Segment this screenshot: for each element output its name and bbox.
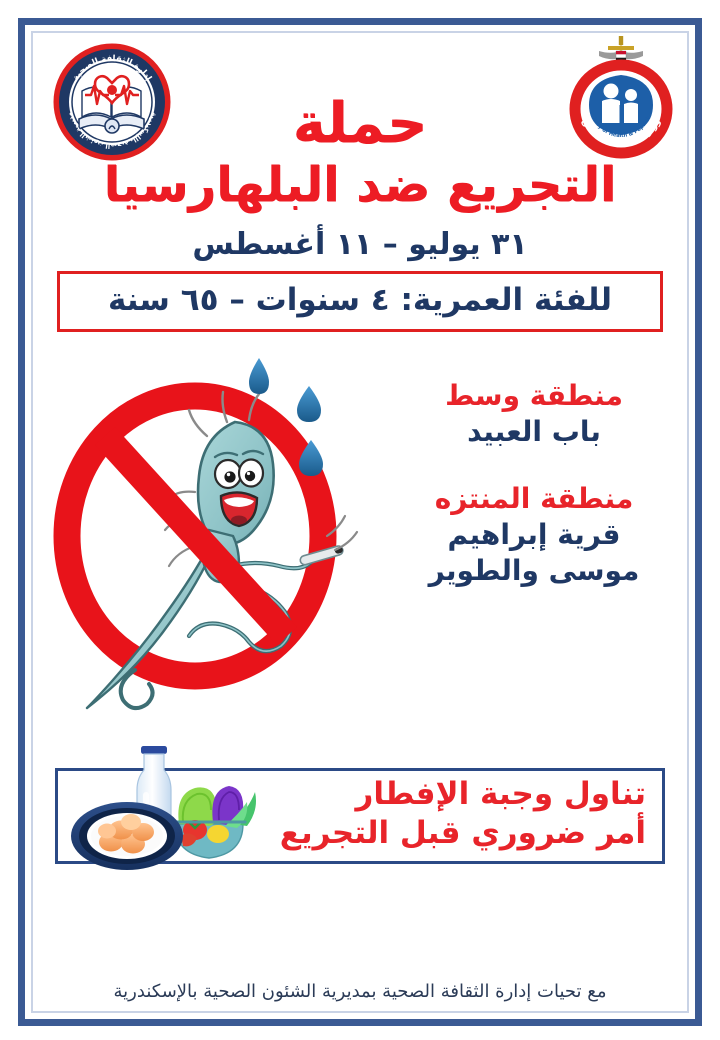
poster-inner-frame: إدارة الثقافة الصحية مديرية الشئون الصحي…: [31, 31, 689, 1013]
location-item: منطقة المنتزه قرية إبراهيم موسى والطوير: [403, 481, 665, 590]
poster-root: إدارة الثقافة الصحية مديرية الشئون الصحي…: [0, 0, 720, 1040]
age-range-box: للفئة العمرية: ٤ سنوات – ٦٥ سنة: [57, 271, 663, 332]
locations-list: منطقة وسط باب العبيد منطقة المنتزه قرية …: [403, 378, 665, 590]
poster-header: إدارة الثقافة الصحية مديرية الشئون الصحي…: [33, 33, 687, 265]
breakfast-banner-text: تناول وجبة الإفطار أمر ضروري قبل التجريع: [280, 775, 646, 854]
health-culture-administration-logo-icon: إدارة الثقافة الصحية مديرية الشئون الصحي…: [51, 43, 173, 161]
location-district: منطقة وسط: [403, 378, 665, 414]
breakfast-line2: أمر ضروري قبل التجريع: [280, 814, 646, 854]
campaign-date-range: ٣١ يوليو – ١١ أغسطس: [33, 227, 687, 263]
location-place: باب العبيد: [403, 414, 665, 450]
breakfast-line1: تناول وجبة الإفطار: [280, 775, 646, 815]
no-schistosoma-prohibition-sign-icon: [43, 340, 373, 716]
poster-footer: مع تحيات إدارة الثقافة الصحية بمديرية ال…: [33, 980, 687, 1003]
location-place-line1: قرية إبراهيم: [403, 517, 665, 553]
breakfast-meal-illustration-icon: [63, 732, 263, 876]
footer-credit-text: مع تحيات إدارة الثقافة الصحية بمديرية ال…: [33, 980, 687, 1003]
breakfast-banner-zone: تناول وجبة الإفطار أمر ضروري قبل التجريع: [33, 736, 687, 886]
location-district: منطقة المنتزه: [403, 481, 665, 517]
age-range-text: للفئة العمرية: ٤ سنوات – ٦٥ سنة: [70, 281, 650, 320]
location-place-line2: موسى والطوير: [403, 553, 665, 589]
age-box-wrapper: للفئة العمرية: ٤ سنوات – ٦٥ سنة: [33, 271, 687, 332]
poster-outer-frame: إدارة الثقافة الصحية مديرية الشئون الصحي…: [18, 18, 702, 1026]
campaign-title-line2: التجريع ضد البلهارسيا: [33, 158, 687, 213]
middle-section: منطقة وسط باب العبيد منطقة المنتزه قرية …: [33, 332, 687, 736]
ministry-of-health-logo-icon: Ministry of Health & Population وزارة ال…: [565, 35, 677, 161]
location-item: منطقة وسط باب العبيد: [403, 378, 665, 451]
